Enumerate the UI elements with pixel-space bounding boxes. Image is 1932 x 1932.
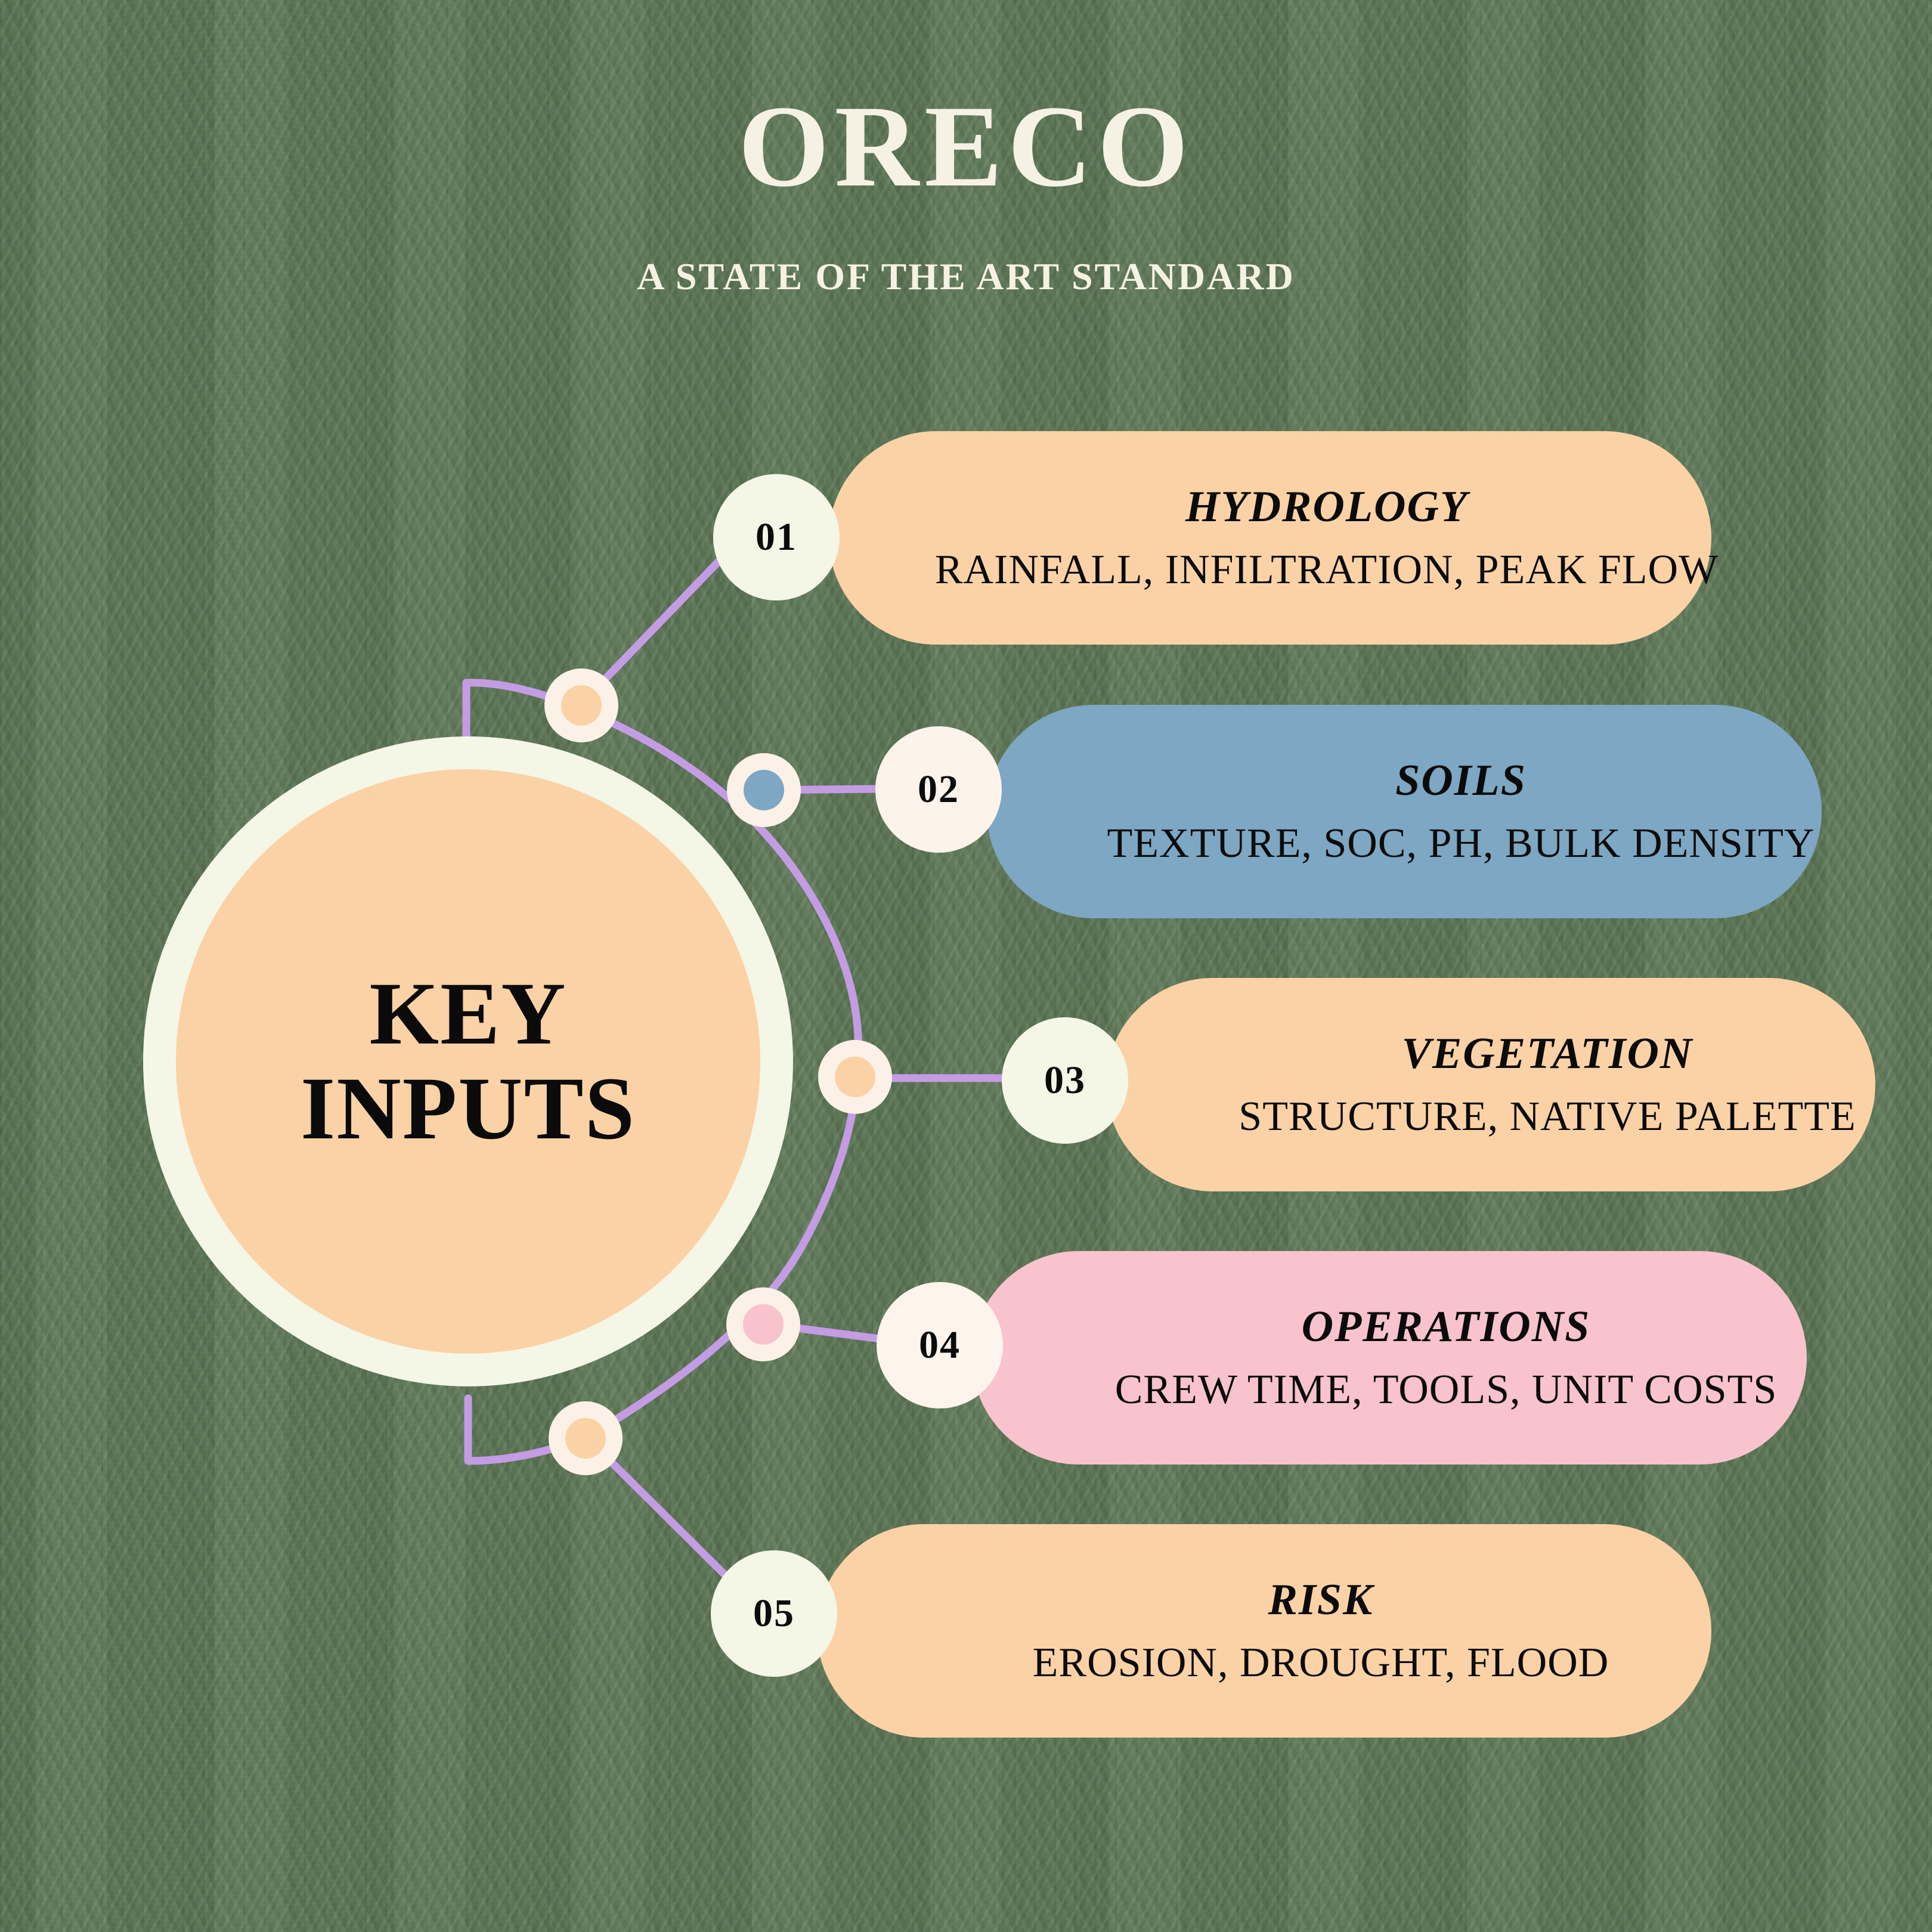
pill-description: EROSION, DROUGHT, FLOOD [1033,1642,1609,1684]
pill-title: SOILS [1395,758,1527,803]
pill-soils[interactable]: SOILS TEXTURE, SOC, PH, BULK DENSITY [987,705,1822,918]
badge-01[interactable]: 01 [713,474,840,600]
pill-operations[interactable]: OPERATIONS CREW TIME, TOOLS, UNIT COSTS [972,1251,1807,1465]
badge-02[interactable]: 02 [875,726,1002,853]
header: ORECO A STATE OF THE ART STANDARD [0,0,1932,296]
page-subtitle: A STATE OF THE ART STANDARD [0,205,1932,296]
pill-vegetation[interactable]: VEGETATION STRUCTURE, NATIVE PALETTE [1106,978,1875,1191]
badge-number: 02 [918,770,959,809]
badge-number: 04 [919,1326,961,1365]
pill-risk[interactable]: RISK EROSION, DROUGHT, FLOOD [817,1524,1711,1738]
infographic-canvas: ORECO A STATE OF THE ART STANDARD [0,0,1932,1932]
badge-04[interactable]: 04 [877,1282,1003,1408]
pill-description: RAINFALL, INFILTRATION, PEAK FLOW [935,549,1719,591]
pill-description: CREW TIME, TOOLS, UNIT COSTS [1115,1369,1778,1411]
badge-05[interactable]: 05 [711,1550,837,1677]
pill-title: HYDROLOGY [1185,485,1468,529]
page-title: ORECO [0,0,1932,205]
hub-label: KEY INPUTS [301,967,636,1156]
badge-number: 01 [756,518,797,557]
pill-title: VEGETATION [1402,1032,1693,1076]
hub-circle: KEY INPUTS [143,736,793,1386]
pill-description: TEXTURE, SOC, PH, BULK DENSITY [1107,823,1815,865]
pill-description: STRUCTURE, NATIVE PALETTE [1239,1096,1856,1138]
badge-number: 03 [1044,1061,1086,1100]
hub-inner-circle: KEY INPUTS [176,769,760,1354]
pill-title: OPERATIONS [1302,1305,1591,1349]
pill-title: RISK [1268,1578,1374,1622]
badge-03[interactable]: 03 [1002,1017,1128,1144]
pill-hydrology[interactable]: HYDROLOGY RAINFALL, INFILTRATION, PEAK F… [829,431,1711,645]
badge-number: 05 [753,1594,795,1633]
